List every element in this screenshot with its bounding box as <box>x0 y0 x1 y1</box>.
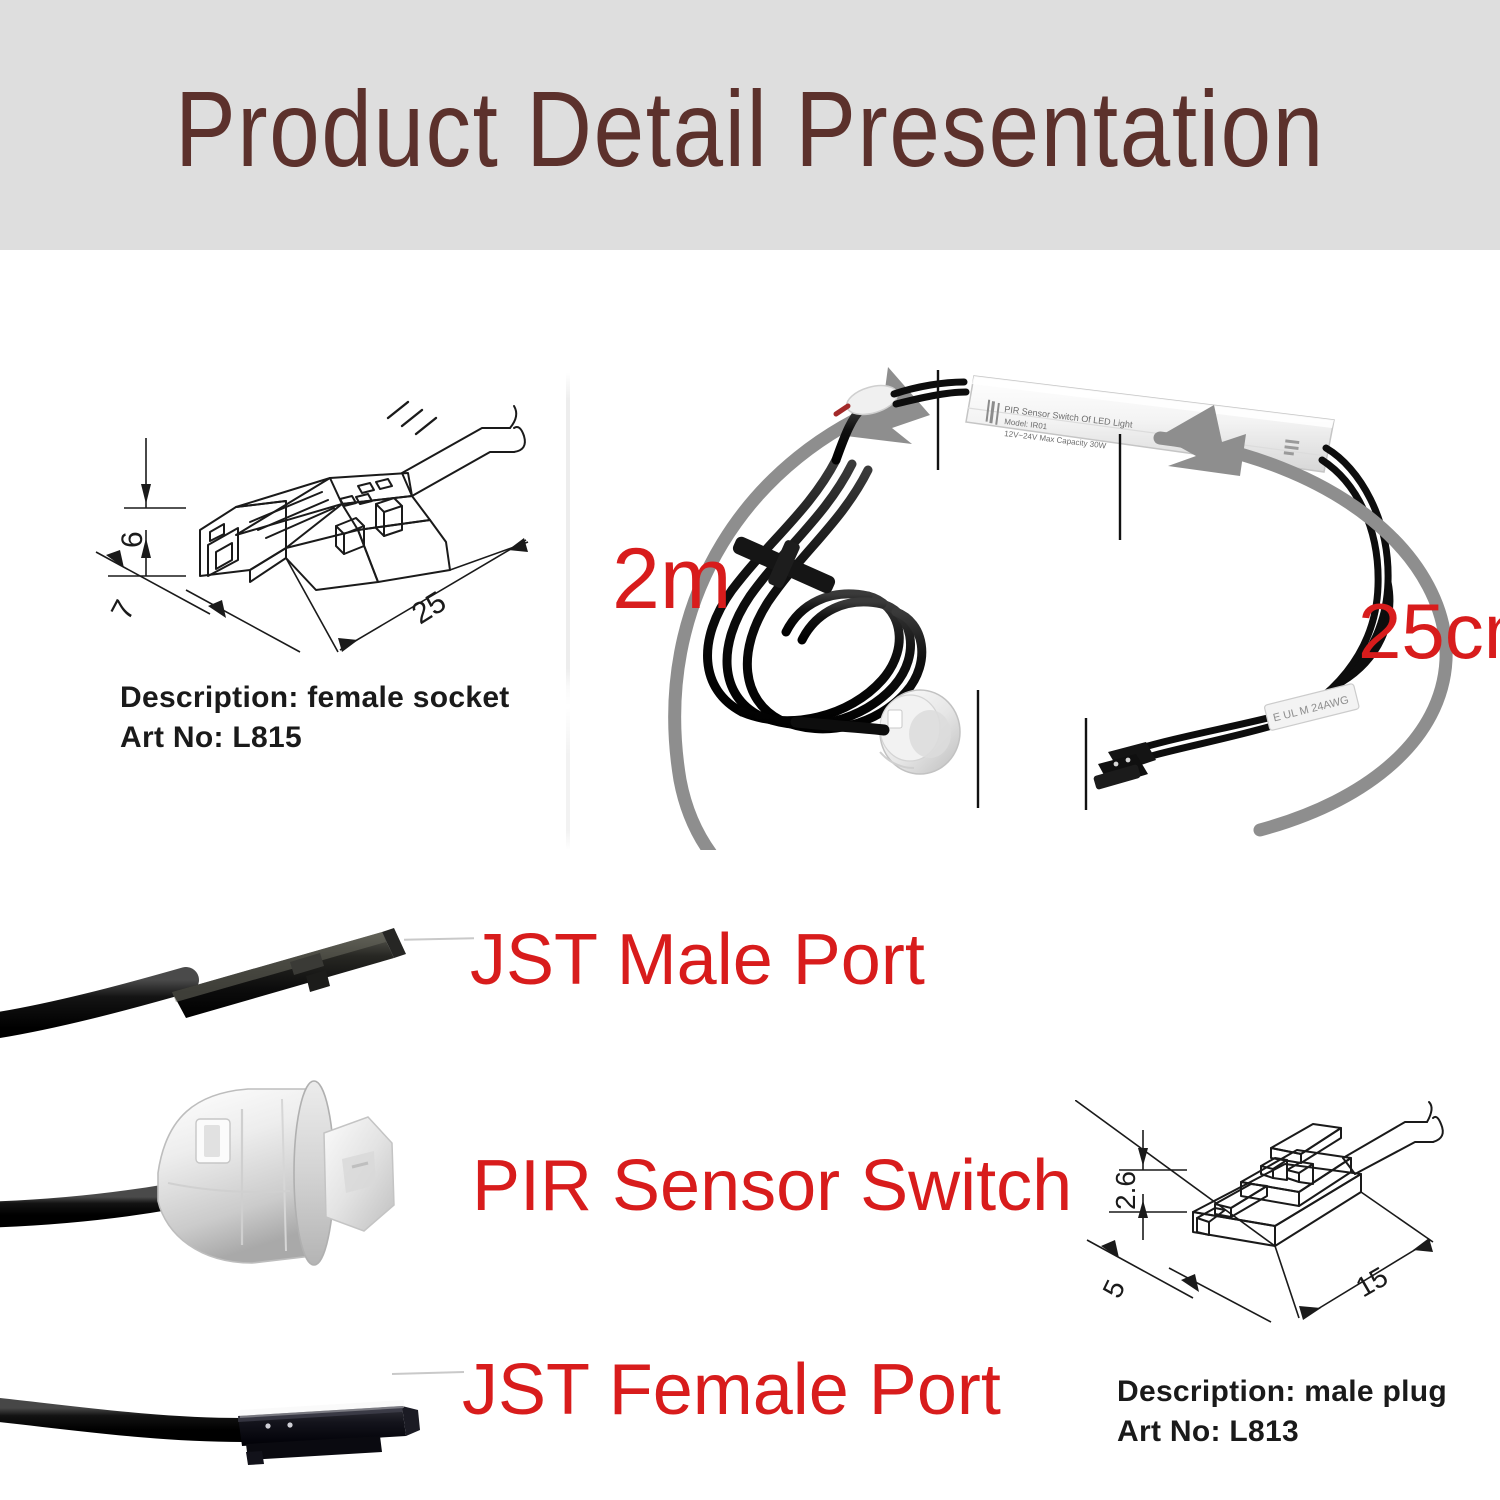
pir-controller-box: PIR Sensor Switch Of LED Light Model: IR… <box>966 376 1334 472</box>
dim-label-7: 7 <box>105 595 142 625</box>
coiled-cable <box>708 460 922 729</box>
male-plug-drawing: 2.6 5 15 <box>1075 1100 1500 1400</box>
pir-sensor-head <box>880 690 960 774</box>
jst-connector-pair <box>1093 742 1156 790</box>
male-plug-panel: 2.6 5 15 Description: male plug Art No: … <box>1075 1100 1500 1490</box>
controller-input-wires <box>894 382 966 404</box>
dim-label-25: 25 <box>406 585 452 631</box>
callout-pir-sensor-switch: PIR Sensor Switch <box>472 1148 1072 1224</box>
male-plug-art-no: Art No: L813 <box>1117 1412 1299 1452</box>
female-port-cable <box>0 1408 242 1430</box>
output-lead-length-label: 25cm <box>1358 592 1500 670</box>
dim-label-6: 6 <box>116 531 149 548</box>
callout-jst-female-port: JST Female Port <box>462 1352 1001 1428</box>
dim-label-2-6: 2.6 <box>1110 1171 1141 1210</box>
product-detail-page: Product Detail Presentation <box>0 0 1500 1500</box>
jst-male-port-photo <box>0 900 460 1060</box>
cable-length-label: 2m <box>612 536 731 622</box>
dim-label-5: 5 <box>1097 1275 1132 1303</box>
female-socket-panel: 6 7 25 Description: female socket Art No… <box>90 400 560 800</box>
pir-sensor-switch-photo <box>0 1055 460 1285</box>
pir-sensor-cable <box>0 1197 168 1215</box>
female-socket-art-no: Art No: L815 <box>120 718 302 758</box>
male-port-cable <box>0 980 186 1028</box>
callout-jst-male-port: JST Male Port <box>470 922 925 998</box>
female-socket-drawing: 6 7 25 <box>90 400 560 700</box>
panel-divider <box>566 372 570 850</box>
jst-female-port-photo <box>0 1330 460 1490</box>
male-plug-description: Description: male plug <box>1117 1372 1447 1412</box>
wire-label-tag: E UL M 24AWG <box>1264 683 1360 730</box>
page-title: Product Detail Presentation <box>120 74 1380 184</box>
header-banner: Product Detail Presentation <box>0 0 1500 250</box>
female-socket-description: Description: female socket <box>120 678 510 718</box>
